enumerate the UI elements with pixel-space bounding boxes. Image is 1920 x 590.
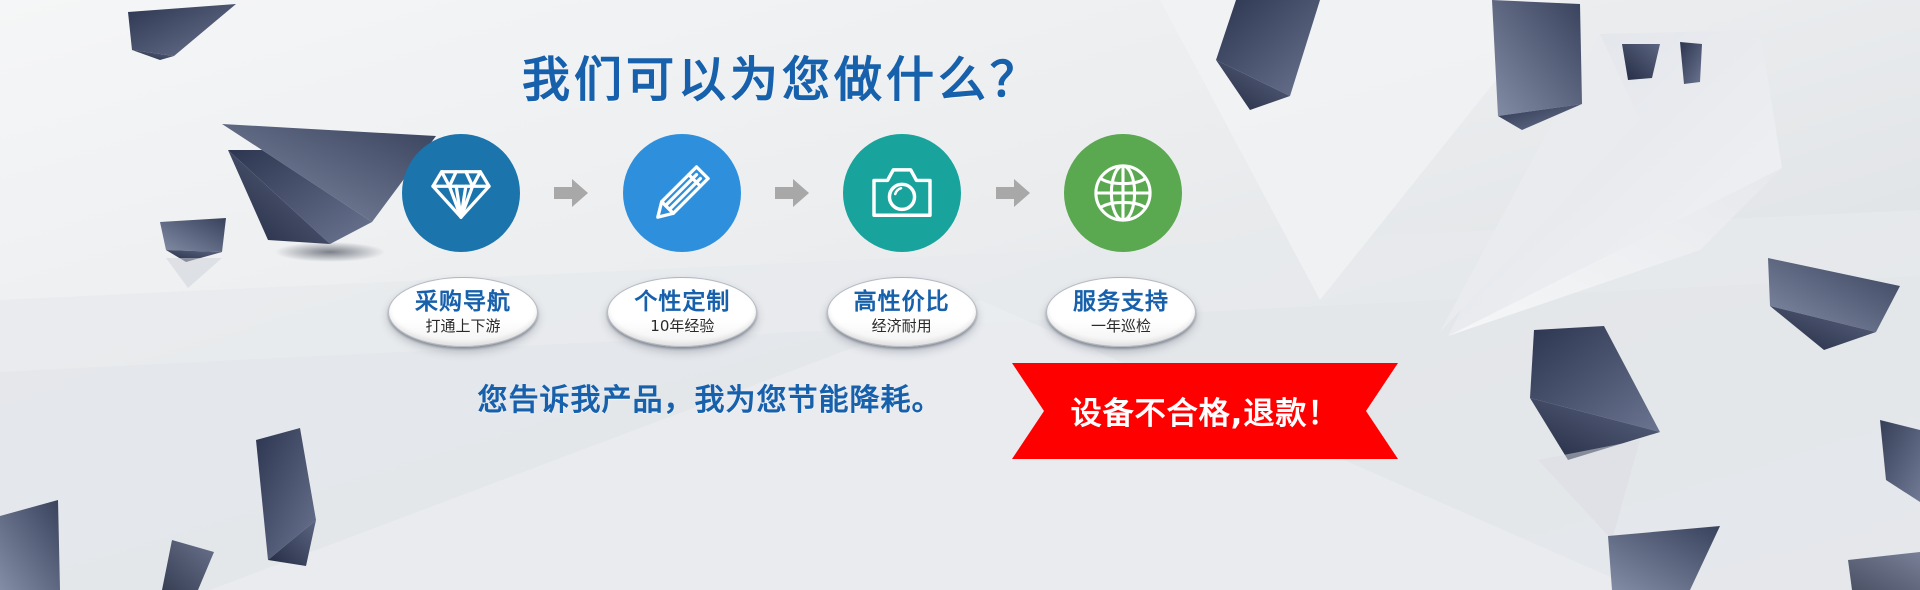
arrow-right-icon [775,178,809,208]
badge-row: 采购导航 打通上下游 个性定制 10年经验 高性价比 经济耐用 服务支持 一年巡… [388,277,1196,353]
step-3-value[interactable] [843,134,961,252]
guarantee-ribbon: 设备不合格,退款！ [1012,363,1398,459]
badge-subtitle: 10年经验 [650,319,714,334]
badge-text: 服务支持 一年巡检 [1046,277,1196,347]
badge-text: 采购导航 打通上下游 [388,277,538,347]
arrow-right-icon [554,178,588,208]
badge-subtitle: 打通上下游 [425,319,500,334]
step-3-circle [843,134,961,252]
badge-title: 采购导航 [415,291,511,314]
badge-title: 服务支持 [1073,291,1169,314]
step-circles-row [402,133,1182,253]
pencil-icon [652,163,712,223]
badge-value[interactable]: 高性价比 经济耐用 [827,277,977,347]
banner-title-text: 我们可以为您做什么？ [522,40,1042,110]
badge-title: 高性价比 [854,291,950,314]
badge-service[interactable]: 服务支持 一年巡检 [1046,277,1196,347]
badge-purchasing[interactable]: 采购导航 打通上下游 [388,277,538,347]
promo-banner: 我们可以为您做什么？ [0,0,1920,590]
badge-subtitle: 一年巡检 [1091,319,1151,334]
banner-tagline: 您告诉我产品，我为您节能降耗。 [400,375,1020,419]
ribbon-text: 设备不合格,退款！ [1012,363,1398,459]
step-2-customization[interactable] [623,134,741,252]
diamond-icon [430,164,492,222]
step-1-circle [402,134,520,252]
step-2-circle [623,134,741,252]
step-4-circle [1064,134,1182,252]
arrow-right-icon [996,178,1030,208]
badge-customization[interactable]: 个性定制 10年经验 [607,277,757,347]
banner-title: 我们可以为您做什么？ [0,40,1920,110]
step-1-purchasing[interactable] [402,134,520,252]
camera-icon [870,165,934,221]
step-4-service[interactable] [1064,134,1182,252]
badge-text: 高性价比 经济耐用 [827,277,977,347]
badge-subtitle: 经济耐用 [872,319,932,334]
badge-title: 个性定制 [634,291,730,314]
globe-icon [1093,163,1153,223]
badge-text: 个性定制 10年经验 [607,277,757,347]
